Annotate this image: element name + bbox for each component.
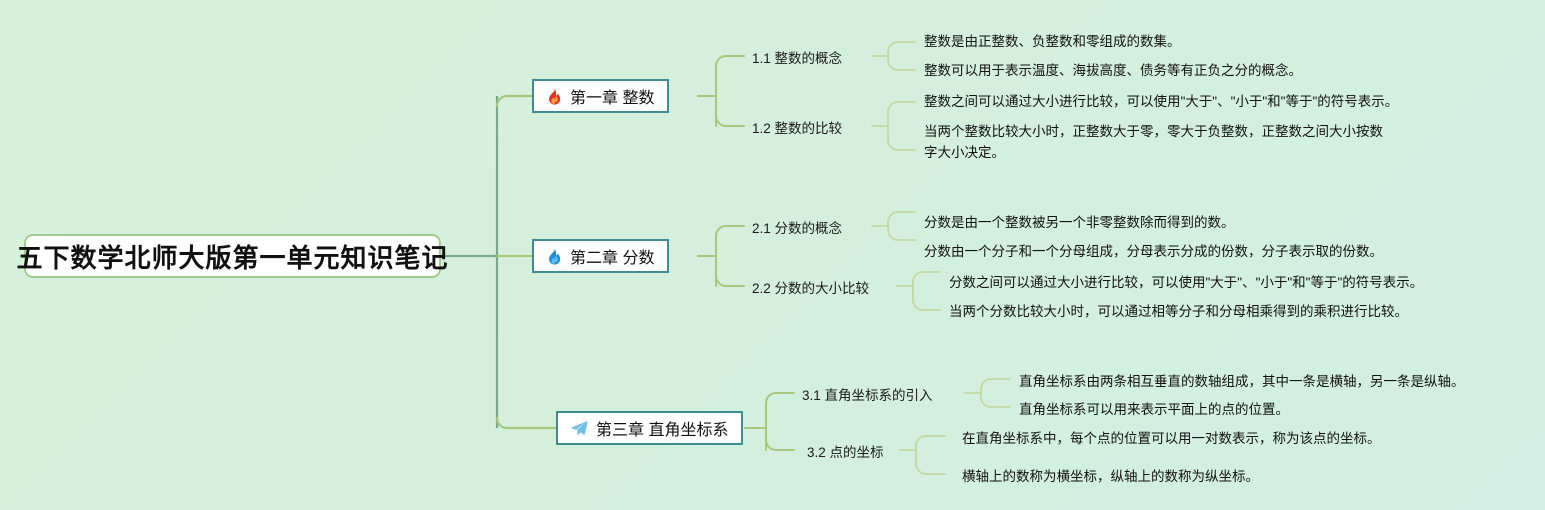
chapter-node-3[interactable]: 第三章 直角坐标系 xyxy=(556,411,743,445)
subtopic-label-1-2[interactable]: 1.2 整数的比较 xyxy=(752,117,842,137)
leaf-text-1-2-2: 当两个整数比较大小时，正整数大于零，零大于负整数，正整数之间大小按数字大小决定。 xyxy=(924,121,1394,163)
bracket-1-2 xyxy=(888,102,898,150)
subtopic-label-1-1[interactable]: 1.1 整数的概念 xyxy=(752,47,842,67)
bracket-3-2 xyxy=(916,436,926,474)
leaf-text-2-1-2: 分数由一个分子和一个分母组成，分母表示分成的份数，分子表示取的份数。 xyxy=(924,241,1383,262)
branch-ch1-sub2 xyxy=(716,116,744,126)
flame-blue-icon xyxy=(547,248,562,265)
leaf-text-2-1-1: 分数是由一个整数被另一个非零整数除而得到的数。 xyxy=(924,212,1235,233)
subtopic-label-2-1[interactable]: 2.1 分数的概念 xyxy=(752,217,842,237)
leaf-text-3-2-2: 横轴上的数称为横坐标，纵轴上的数称为纵坐标。 xyxy=(962,466,1259,487)
root-node-label: 五下数学北师大版第一单元知识笔记 xyxy=(17,238,449,275)
leaf-text-1-1-2: 整数可以用于表示温度、海拔高度、债务等有正负之分的概念。 xyxy=(924,60,1302,81)
subtopic-label-3-1[interactable]: 3.1 直角坐标系的引入 xyxy=(802,384,933,404)
branch-ch1-stem xyxy=(698,56,744,96)
chapter-node-2-label: 第二章 分数 xyxy=(570,244,654,268)
bracket-1-1 xyxy=(888,42,898,70)
leaf-text-2-2-2: 当两个分数比较大小时，可以通过相等分子和分母相乘得到的乘积进行比较。 xyxy=(949,301,1408,322)
branch-ch2-stem xyxy=(698,226,744,256)
subtopic-label-2-2[interactable]: 2.2 分数的大小比较 xyxy=(752,277,869,297)
leaf-text-1-2-1: 整数之间可以通过大小进行比较，可以使用"大于"、"小于"和"等于"的符号表示。 xyxy=(924,91,1398,112)
branch-root-ch1 xyxy=(497,96,532,106)
bracket-2-2 xyxy=(913,272,923,310)
bracket-3-1 xyxy=(981,379,991,407)
chapter-node-2[interactable]: 第二章 分数 xyxy=(532,239,669,273)
bracket-2-1 xyxy=(888,212,898,240)
leaf-text-3-2-1: 在直角坐标系中，每个点的位置可以用一对数表示，称为该点的坐标。 xyxy=(962,428,1381,449)
subtopic-label-3-2[interactable]: 3.2 点的坐标 xyxy=(807,441,884,461)
mindmap-canvas: 五下数学北师大版第一单元知识笔记 第一章 整数 第二章 分数 第 xyxy=(0,0,1545,510)
branch-ch2-sub2 xyxy=(716,276,744,286)
branch-ch3-sub2 xyxy=(766,440,794,450)
chapter-node-3-label: 第三章 直角坐标系 xyxy=(596,416,728,440)
root-node[interactable]: 五下数学北师大版第一单元知识笔记 xyxy=(24,234,441,278)
flame-red-icon xyxy=(547,88,562,105)
branch-ch3-stem xyxy=(745,393,794,428)
paper-plane-icon xyxy=(571,420,588,436)
leaf-text-2-2-1: 分数之间可以通过大小进行比较，可以使用"大于"、"小于"和"等于"的符号表示。 xyxy=(949,272,1423,293)
branch-root-ch3 xyxy=(497,418,556,428)
leaf-text-3-1-2: 直角坐标系可以用来表示平面上的点的位置。 xyxy=(1019,399,1289,420)
leaf-text-1-1-1: 整数是由正整数、负整数和零组成的数集。 xyxy=(924,31,1181,52)
chapter-node-1-label: 第一章 整数 xyxy=(570,84,654,108)
chapter-node-1[interactable]: 第一章 整数 xyxy=(532,79,669,113)
leaf-text-3-1-1: 直角坐标系由两条相互垂直的数轴组成，其中一条是横轴，另一条是纵轴。 xyxy=(1019,371,1465,392)
